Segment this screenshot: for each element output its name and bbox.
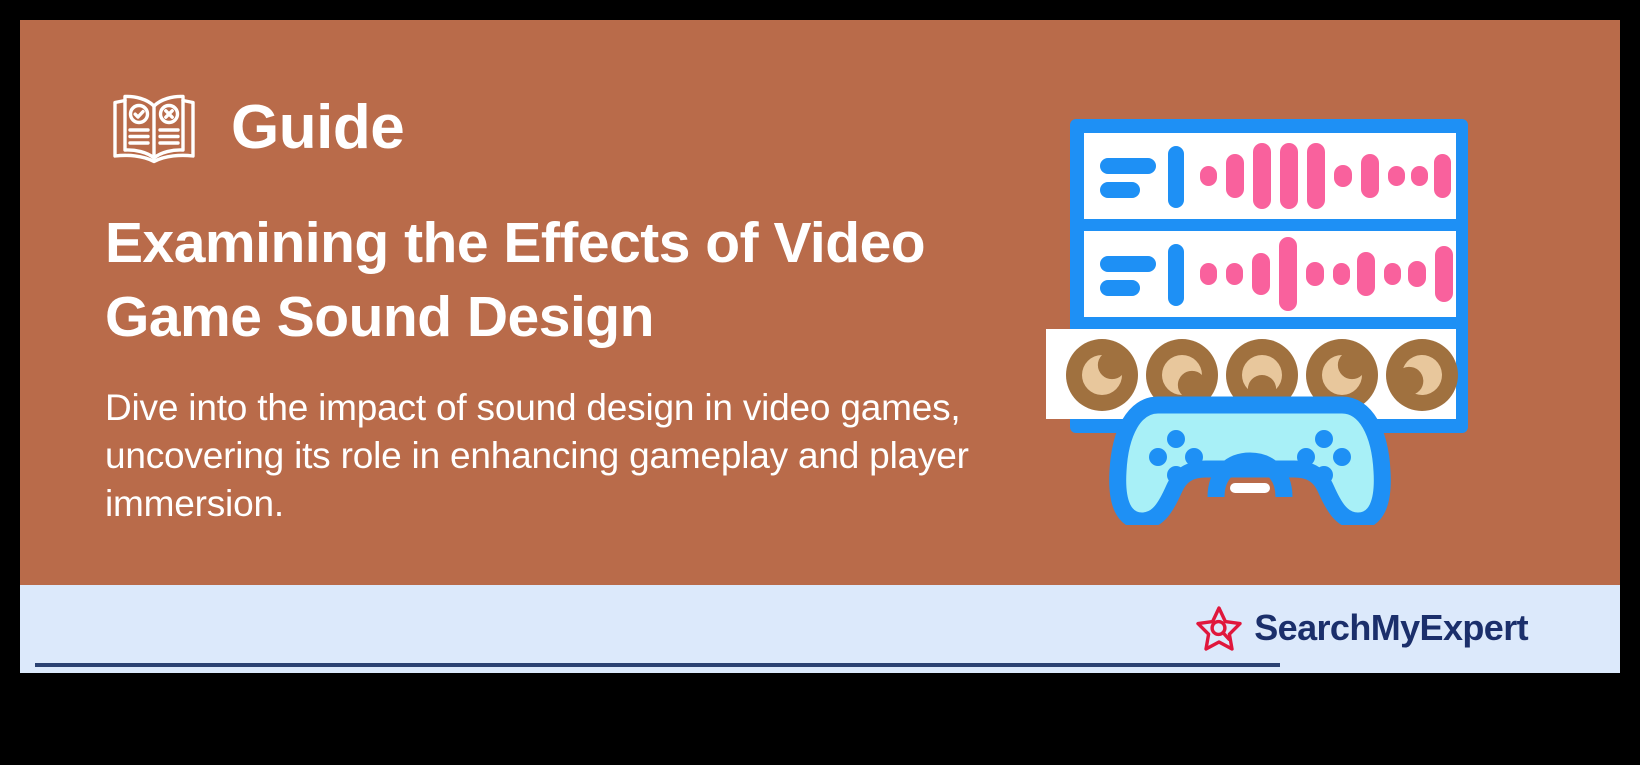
gamepad-icon bbox=[1118, 405, 1383, 521]
footer-bar: SearchMyExpert bbox=[20, 585, 1620, 673]
page-subtitle: Dive into the impact of sound design in … bbox=[105, 384, 1005, 528]
head-1 bbox=[1066, 339, 1138, 411]
open-book-icon bbox=[105, 92, 203, 164]
gamepad-slot bbox=[1230, 483, 1270, 493]
footer-divider bbox=[35, 663, 1280, 667]
illustration-svg bbox=[1030, 105, 1470, 525]
eyebrow-label: Guide bbox=[231, 97, 404, 159]
brand-name: SearchMyExpert bbox=[1254, 610, 1528, 646]
page-title: Examining the Effects of Video Game Soun… bbox=[105, 206, 975, 354]
star-magnifier-logo bbox=[1196, 605, 1242, 651]
illustration-audio-tracks-gamepad bbox=[1030, 105, 1470, 525]
head-5 bbox=[1386, 339, 1458, 411]
hero-section: Guide Examining the Effects of Video Gam… bbox=[20, 20, 1620, 585]
hero-text-column: Guide Examining the Effects of Video Gam… bbox=[105, 82, 1005, 528]
banner-frame: Guide Examining the Effects of Video Gam… bbox=[0, 0, 1640, 765]
brand-lockup[interactable]: SearchMyExpert bbox=[1196, 605, 1528, 651]
banner-card: Guide Examining the Effects of Video Gam… bbox=[20, 20, 1620, 673]
eyebrow-row: Guide bbox=[105, 82, 1005, 174]
